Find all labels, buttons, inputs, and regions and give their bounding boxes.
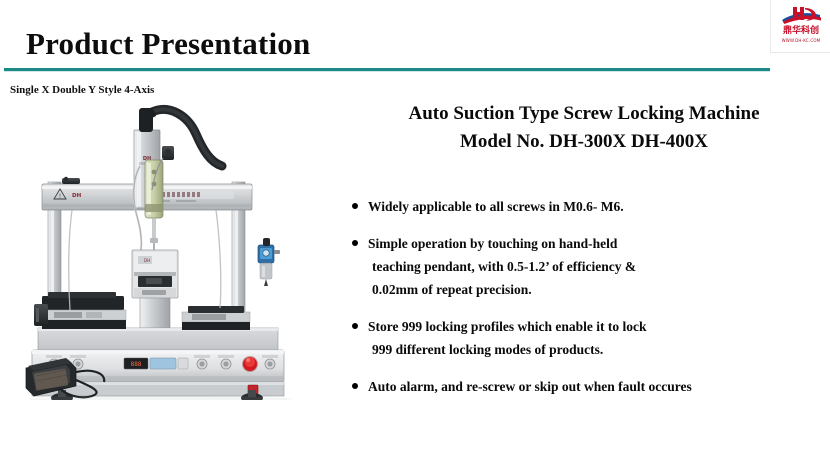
product-headline: Auto Suction Type Screw Locking Machine … [345,100,823,156]
feature-text-line2: 999 different locking modes of products. [368,338,824,361]
dual-y-work-tables [42,296,124,310]
feature-text-line1: Store 999 locking profiles which enable … [368,319,647,334]
feature-text-line2: teaching pendant, with 0.5-1.2’ of effic… [368,255,824,278]
feature-text-line3: 0.02mm of repeat precision. [368,278,824,301]
feature-text-line1: Simple operation by touching on hand-hel… [368,236,617,251]
svg-text:!: ! [59,193,61,200]
feature-list: Widely applicable to all screws in M0.6-… [352,195,824,412]
feature-item: Simple operation by touching on hand-hel… [352,232,824,301]
feature-item: Auto alarm, and re-screw or skip out whe… [352,375,824,398]
bullet-dot-icon [352,203,358,209]
svg-text:DH: DH [144,258,150,263]
logo-mark-icon [780,5,822,25]
feature-text-line1: Auto alarm, and re-screw or skip out whe… [368,379,692,394]
page-title: Product Presentation [26,26,310,62]
air-filter-regulator [258,238,280,286]
slide-subtitle: Single X Double Y Style 4-Axis [10,84,154,96]
feature-item: Store 999 locking profiles which enable … [352,315,824,361]
machine-deck [38,328,278,350]
svg-text:DH: DH [72,193,82,199]
machine-photo: ! DH DH [20,100,330,400]
bullet-dot-icon [352,323,358,329]
feature-text-line1: Widely applicable to all screws in M0.6-… [368,199,624,214]
machine-illustration: ! DH DH [20,100,330,400]
svg-text:888: 888 [131,361,142,368]
logo-website-url: WWW.DH-KC.COM [775,38,827,43]
slide-root: Product Presentation Single X Double Y S… [0,0,830,466]
feature-item: Widely applicable to all screws in M0.6-… [352,195,824,218]
bullet-dot-icon [352,383,358,389]
logo-company-name: 鼎华科创 [777,27,825,36]
headline-line-1: Auto Suction Type Screw Locking Machine [345,100,823,128]
headline-line-2: Model No. DH-300X DH-400X [345,128,823,156]
title-divider-shadow [4,71,770,72]
bullet-dot-icon [352,240,358,246]
company-logo: 鼎华科创 WWW.DH-KC.COM [770,0,830,53]
